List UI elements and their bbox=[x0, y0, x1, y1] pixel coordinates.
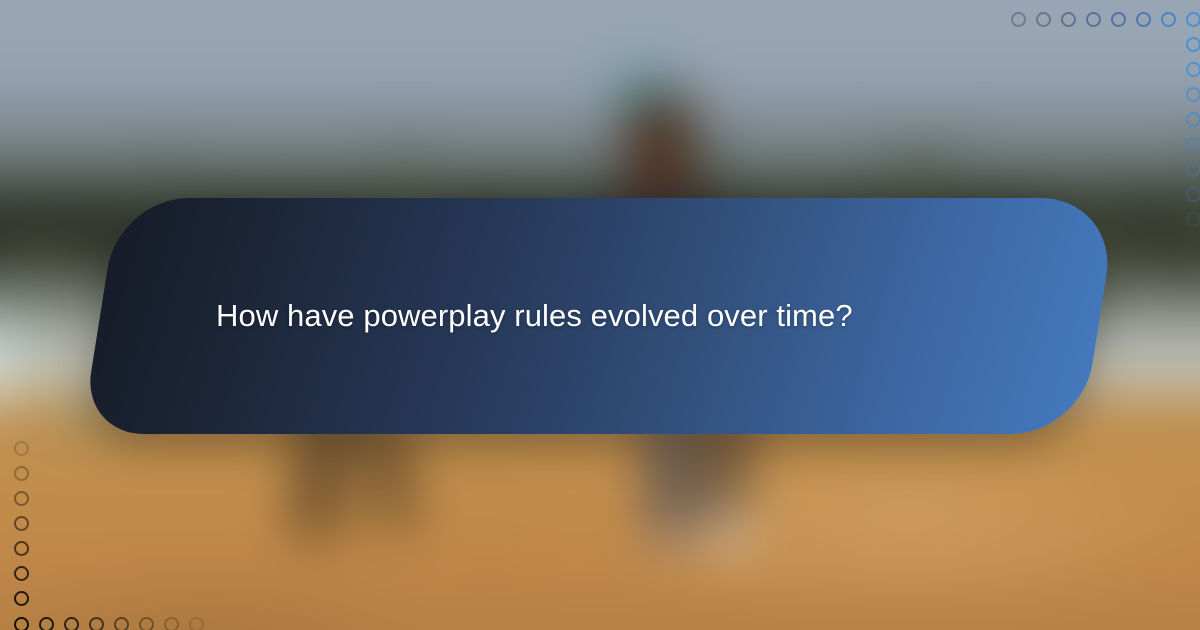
spectator-blur-left bbox=[0, 331, 17, 426]
decorative-dot bbox=[1111, 12, 1126, 27]
headline-card: How have powerplay rules evolved over ti… bbox=[100, 198, 1100, 434]
decorative-dot bbox=[114, 617, 129, 630]
decorative-dot bbox=[1011, 12, 1026, 27]
decorative-dot bbox=[14, 617, 29, 630]
decorative-dot bbox=[164, 617, 179, 630]
decorative-dot bbox=[1186, 87, 1200, 102]
decorative-dot bbox=[14, 466, 29, 481]
decorative-dot bbox=[1186, 62, 1200, 77]
decorative-dot bbox=[1186, 137, 1200, 152]
decorative-dot bbox=[1186, 162, 1200, 177]
decorative-dot bbox=[1186, 37, 1200, 52]
decorative-dot bbox=[14, 516, 29, 531]
decorative-dot bbox=[64, 617, 79, 630]
decorative-dot bbox=[1136, 12, 1151, 27]
decorative-dot bbox=[1061, 12, 1076, 27]
decorative-dot bbox=[189, 617, 204, 630]
decorative-dot bbox=[14, 591, 29, 606]
decorative-dot bbox=[1161, 12, 1176, 27]
decorative-dot bbox=[1186, 212, 1200, 227]
decorative-dot bbox=[14, 566, 29, 581]
decorative-dot bbox=[89, 617, 104, 630]
decorative-dot bbox=[1186, 12, 1200, 27]
decorative-dot bbox=[1186, 187, 1200, 202]
decorative-dot bbox=[14, 491, 29, 506]
decorative-dot bbox=[39, 617, 54, 630]
share-card-canvas: How have powerplay rules evolved over ti… bbox=[0, 0, 1200, 630]
decorative-dot bbox=[1186, 112, 1200, 127]
decorative-dot bbox=[139, 617, 154, 630]
decorative-dot bbox=[14, 541, 29, 556]
decorative-dot bbox=[1036, 12, 1051, 27]
decorative-dot bbox=[14, 441, 29, 456]
headline-text: How have powerplay rules evolved over ti… bbox=[216, 198, 853, 434]
decorative-dot bbox=[1086, 12, 1101, 27]
